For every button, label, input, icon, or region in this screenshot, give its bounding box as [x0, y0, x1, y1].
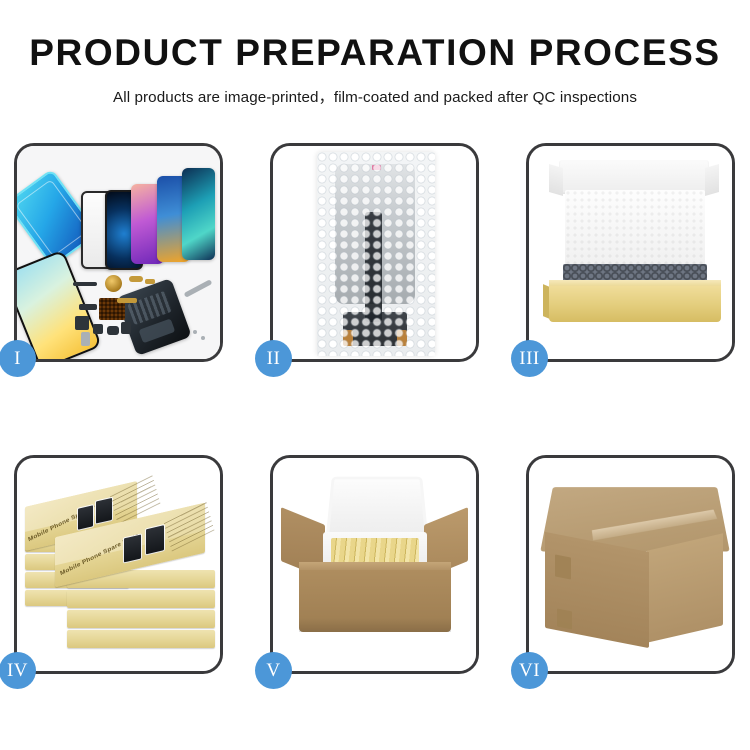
step-badge-6: VI [511, 652, 548, 689]
gold-flex-strip [117, 298, 137, 303]
box-window-right-a [123, 533, 142, 563]
small-flex-b [75, 316, 89, 330]
stacked-retail-boxes-illustration: Mobile Phone Spare Parts Mobile Phone Sp… [17, 458, 220, 671]
process-steps-grid: I II [14, 143, 736, 674]
step-badge-3: III [511, 340, 548, 377]
small-flex-c [93, 324, 103, 334]
stack-box-r3 [67, 590, 215, 608]
small-flex-a [79, 304, 97, 310]
step-badge-4: IV [0, 652, 36, 689]
step-panel-2[interactable]: II [270, 143, 479, 362]
white-foam-sheet [565, 190, 705, 268]
step-image-6 [529, 458, 732, 671]
step-badge-2: II [255, 340, 292, 377]
step-panel-5[interactable]: V [270, 455, 479, 674]
box-front-face [549, 286, 721, 322]
flex-cable-part [73, 282, 97, 286]
step-image-1 [17, 146, 220, 359]
sim-tray-part [81, 332, 90, 346]
bubble-wrapped-screen-illustration [273, 146, 476, 359]
small-flex-d [107, 326, 119, 335]
carton-side-face [647, 533, 723, 643]
open-kraft-box-illustration [529, 146, 732, 359]
carton-front-face [299, 570, 451, 632]
speaker-component [105, 275, 122, 292]
step-image-4: Mobile Phone Spare Parts Mobile Phone Sp… [17, 458, 220, 671]
gold-button-flex [145, 279, 155, 284]
box-window-right-b [145, 524, 165, 556]
phone-screens-and-parts-illustration [17, 146, 220, 359]
step-panel-1[interactable]: I [14, 143, 223, 362]
stack-box-r5 [67, 630, 215, 648]
screw-set-a [193, 330, 197, 334]
carton-flap-tab-top [555, 554, 571, 579]
step-panel-6[interactable]: VI [526, 455, 735, 674]
step-image-5 [273, 458, 476, 671]
teal-gradient-phone [182, 168, 215, 260]
screen-flex-cable [365, 212, 382, 322]
pink-qc-sticker [372, 165, 381, 170]
box-window-left-a [77, 504, 94, 531]
step-image-2 [273, 146, 476, 359]
page-header: PRODUCT PREPARATION PROCESS All products… [0, 0, 750, 107]
connector-right [397, 330, 407, 346]
box-stack: Mobile Phone Spare Parts Mobile Phone Sp… [25, 480, 217, 660]
box-lid-back [559, 160, 709, 194]
packing-tape-strip [592, 510, 717, 541]
step-image-3 [529, 146, 732, 359]
screw-set-b [201, 336, 205, 340]
stack-box-r4 [67, 610, 215, 628]
gold-connector-part [129, 276, 143, 282]
step-badge-1: I [0, 340, 36, 377]
connector-left [343, 330, 353, 346]
camera-module-part [121, 322, 131, 334]
box-spec-lines-right [164, 501, 215, 551]
step-panel-3[interactable]: III [526, 143, 735, 362]
carton-with-foam-insert-illustration [273, 458, 476, 671]
foam-box-lid [326, 477, 428, 537]
step-badge-5: V [255, 652, 292, 689]
sealed-shipping-carton-illustration [529, 458, 732, 671]
carton-flap-tab-bottom [557, 609, 572, 630]
step-panel-4[interactable]: Mobile Phone Spare Parts Mobile Phone Sp… [14, 455, 223, 674]
carton-front-face-sealed [545, 532, 649, 648]
page-title: PRODUCT PREPARATION PROCESS [0, 34, 750, 73]
page-subtitle: All products are image-printed，film-coat… [0, 85, 750, 107]
bubble-wrap-bag [317, 152, 435, 356]
